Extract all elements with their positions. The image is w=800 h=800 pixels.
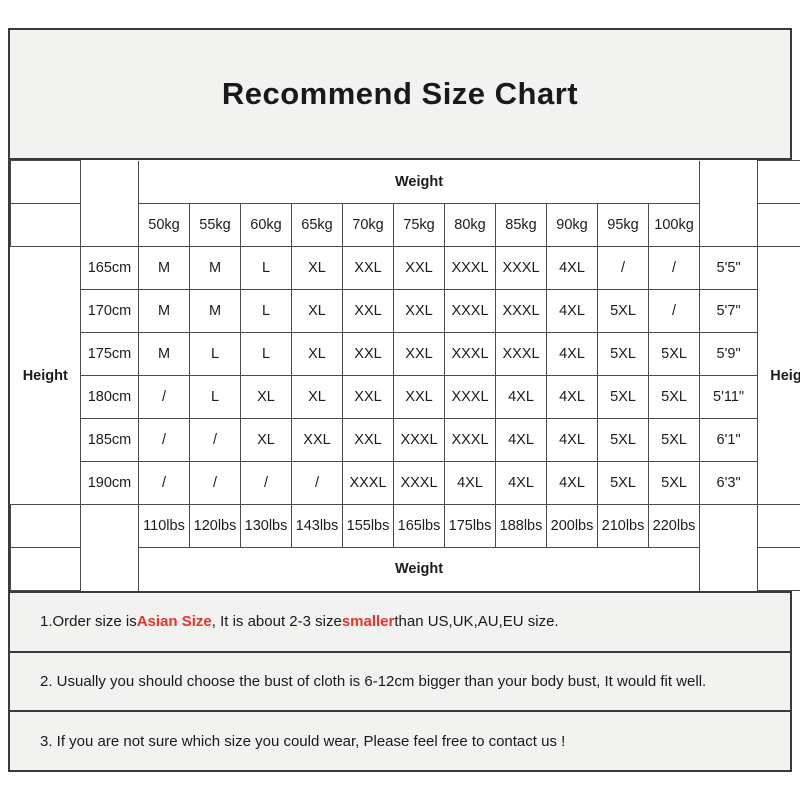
size-cell-4-8: 4XL (547, 419, 598, 462)
size-cell-0-1: M (190, 247, 241, 290)
size-cell-5-6: 4XL (445, 462, 496, 505)
size-cell-5-0: / (139, 462, 190, 505)
weight-kg-header-7: 85kg (496, 204, 547, 247)
size-cell-3-7: 4XL (496, 376, 547, 419)
size-cell-3-3: XL (292, 376, 343, 419)
weight-lbs-header-8: 200lbs (547, 505, 598, 548)
weight-kg-header-6: 80kg (445, 204, 496, 247)
weight-kg-header-1: 55kg (190, 204, 241, 247)
grid-spacer-kg-left (81, 204, 139, 247)
weight-kg-header-row: 50kg55kg60kg65kg70kg75kg80kg85kg90kg95kg… (11, 204, 800, 247)
weight-lbs-header-2: 130lbs (241, 505, 292, 548)
table-row: 180cm/LXLXLXXLXXLXXXL4XL4XL5XL5XL5'11" (11, 376, 800, 419)
size-cell-3-1: L (190, 376, 241, 419)
weight-bottom-header: Weight (139, 548, 700, 591)
table-row: 175cmMLLXLXXLXXLXXXLXXXL4XL5XL5XL5'9" (11, 333, 800, 376)
grid-edge-left-2 (11, 505, 81, 548)
grid-corner-bottom-right (758, 548, 800, 591)
height-ft-1: 5'7" (700, 290, 758, 333)
weight-kg-header-10: 100kg (649, 204, 700, 247)
size-cell-4-5: XXXL (394, 419, 445, 462)
grid-edge-right (758, 204, 800, 247)
size-cell-0-10: / (649, 247, 700, 290)
size-cell-3-2: XL (241, 376, 292, 419)
height-ft-4: 6'1" (700, 419, 758, 462)
size-cell-0-8: 4XL (547, 247, 598, 290)
size-cell-5-10: 5XL (649, 462, 700, 505)
size-cell-2-4: XXL (343, 333, 394, 376)
note-row-1: 1.Order size is Asian Size, It is about … (10, 593, 790, 653)
table-row: 170cmMMLXLXXLXXLXXXLXXXL4XL5XL/5'7" (11, 290, 800, 333)
size-cell-4-10: 5XL (649, 419, 700, 462)
grid-corner-top-right (758, 161, 800, 204)
weight-top-header-row: Weight (11, 161, 800, 204)
height-ft-2: 5'9" (700, 333, 758, 376)
weight-bottom-header-row: Weight (11, 548, 800, 591)
size-cell-5-8: 4XL (547, 462, 598, 505)
weight-kg-header-2: 60kg (241, 204, 292, 247)
size-cell-1-0: M (139, 290, 190, 333)
size-cell-4-9: 5XL (598, 419, 649, 462)
table-row: 190cm////XXXLXXXL4XL4XL4XL5XL5XL6'3" (11, 462, 800, 505)
grid-spacer-top-left (81, 161, 139, 204)
size-cell-1-5: XXL (394, 290, 445, 333)
size-cell-1-3: XL (292, 290, 343, 333)
height-ft-0: 5'5" (700, 247, 758, 290)
height-cm-1: 170cm (81, 290, 139, 333)
height-cm-5: 190cm (81, 462, 139, 505)
size-cell-0-3: XL (292, 247, 343, 290)
size-cell-1-7: XXXL (496, 290, 547, 333)
title-band: Recommend Size Chart (10, 30, 790, 160)
size-cell-4-6: XXXL (445, 419, 496, 462)
note-1-text-part2: , It is about 2-3 size (212, 613, 342, 630)
weight-lbs-header-0: 110lbs (139, 505, 190, 548)
size-cell-3-8: 4XL (547, 376, 598, 419)
size-cell-1-1: M (190, 290, 241, 333)
weight-lbs-header-4: 155lbs (343, 505, 394, 548)
height-label-left: Height (11, 247, 81, 505)
size-cell-3-10: 5XL (649, 376, 700, 419)
page-title: Recommend Size Chart (222, 76, 578, 112)
size-cell-5-5: XXXL (394, 462, 445, 505)
note-1-text-part3: than US,UK,AU,EU size. (394, 613, 558, 630)
weight-top-header: Weight (139, 161, 700, 204)
size-cell-0-2: L (241, 247, 292, 290)
grid-spacer-bottom-left (81, 548, 139, 591)
grid-edge-right-2 (758, 505, 800, 548)
weight-kg-header-9: 95kg (598, 204, 649, 247)
size-cell-4-7: 4XL (496, 419, 547, 462)
size-cell-1-2: L (241, 290, 292, 333)
size-cell-3-0: / (139, 376, 190, 419)
size-cell-5-3: / (292, 462, 343, 505)
weight-lbs-header-5: 165lbs (394, 505, 445, 548)
grid-corner-bottom-left (11, 548, 81, 591)
size-cell-1-8: 4XL (547, 290, 598, 333)
weight-lbs-header-1: 120lbs (190, 505, 241, 548)
grid-spacer-top-right (700, 161, 758, 204)
note-row-3: 3. If you are not sure which size you co… (10, 712, 790, 770)
grid-edge-left (11, 204, 81, 247)
height-ft-5: 6'3" (700, 462, 758, 505)
size-cell-5-4: XXXL (343, 462, 394, 505)
size-cell-2-6: XXXL (445, 333, 496, 376)
height-cm-2: 175cm (81, 333, 139, 376)
size-cell-2-5: XXL (394, 333, 445, 376)
size-cell-1-6: XXXL (445, 290, 496, 333)
note-2-text: 2. Usually you should choose the bust of… (40, 673, 706, 690)
note-1-text-part1: 1.Order size is (40, 613, 137, 630)
size-cell-5-2: / (241, 462, 292, 505)
size-cell-1-9: 5XL (598, 290, 649, 333)
size-cell-3-5: XXL (394, 376, 445, 419)
size-cell-3-9: 5XL (598, 376, 649, 419)
note-1-highlight-asian-size: Asian Size (137, 613, 212, 630)
weight-kg-header-4: 70kg (343, 204, 394, 247)
grid-spacer-lbs-right (700, 505, 758, 548)
weight-kg-header-5: 75kg (394, 204, 445, 247)
weight-lbs-header-row: 110lbs120lbs130lbs143lbs155lbs165lbs175l… (11, 505, 800, 548)
size-cell-2-7: XXXL (496, 333, 547, 376)
size-cell-0-5: XXL (394, 247, 445, 290)
table-row: 185cm//XLXXLXXLXXXLXXXL4XL4XL5XL5XL6'1" (11, 419, 800, 462)
height-label-right: Height (758, 247, 800, 505)
size-cell-5-7: 4XL (496, 462, 547, 505)
size-cell-4-2: XL (241, 419, 292, 462)
size-cell-2-3: XL (292, 333, 343, 376)
weight-lbs-header-3: 143lbs (292, 505, 343, 548)
size-cell-0-4: XXL (343, 247, 394, 290)
notes-section: 1.Order size is Asian Size, It is about … (10, 593, 790, 770)
size-cell-4-4: XXL (343, 419, 394, 462)
weight-lbs-header-9: 210lbs (598, 505, 649, 548)
size-cell-1-10: / (649, 290, 700, 333)
size-cell-3-4: XXL (343, 376, 394, 419)
height-ft-3: 5'11" (700, 376, 758, 419)
note-1-highlight-smaller: smaller (342, 613, 395, 630)
grid-spacer-bottom-right (700, 548, 758, 591)
size-chart-card: Recommend Size Chart Weight50kg55kg60kg6… (8, 28, 792, 772)
table-row: Height165cmMMLXLXXLXXLXXXLXXXL4XL//5'5"H… (11, 247, 800, 290)
size-cell-5-9: 5XL (598, 462, 649, 505)
weight-kg-header-3: 65kg (292, 204, 343, 247)
size-table: Weight50kg55kg60kg65kg70kg75kg80kg85kg90… (10, 160, 800, 591)
size-cell-2-2: L (241, 333, 292, 376)
size-cell-2-8: 4XL (547, 333, 598, 376)
weight-kg-header-0: 50kg (139, 204, 190, 247)
size-cell-4-1: / (190, 419, 241, 462)
height-cm-4: 185cm (81, 419, 139, 462)
size-cell-2-1: L (190, 333, 241, 376)
size-cell-3-6: XXXL (445, 376, 496, 419)
size-cell-0-9: / (598, 247, 649, 290)
weight-lbs-header-6: 175lbs (445, 505, 496, 548)
weight-lbs-header-10: 220lbs (649, 505, 700, 548)
size-cell-4-3: XXL (292, 419, 343, 462)
size-cell-2-9: 5XL (598, 333, 649, 376)
size-cell-0-6: XXXL (445, 247, 496, 290)
note-3-text: 3. If you are not sure which size you co… (40, 733, 565, 750)
weight-lbs-header-7: 188lbs (496, 505, 547, 548)
height-cm-0: 165cm (81, 247, 139, 290)
size-cell-2-10: 5XL (649, 333, 700, 376)
grid-corner-top-left (11, 161, 81, 204)
height-cm-3: 180cm (81, 376, 139, 419)
note-row-2: 2. Usually you should choose the bust of… (10, 653, 790, 713)
size-cell-0-0: M (139, 247, 190, 290)
grid-spacer-lbs-left (81, 505, 139, 548)
grid-spacer-kg-right (700, 204, 758, 247)
size-cell-1-4: XXL (343, 290, 394, 333)
size-cell-0-7: XXXL (496, 247, 547, 290)
size-cell-5-1: / (190, 462, 241, 505)
weight-kg-header-8: 90kg (547, 204, 598, 247)
size-cell-4-0: / (139, 419, 190, 462)
size-cell-2-0: M (139, 333, 190, 376)
size-grid-area: Weight50kg55kg60kg65kg70kg75kg80kg85kg90… (10, 160, 790, 593)
